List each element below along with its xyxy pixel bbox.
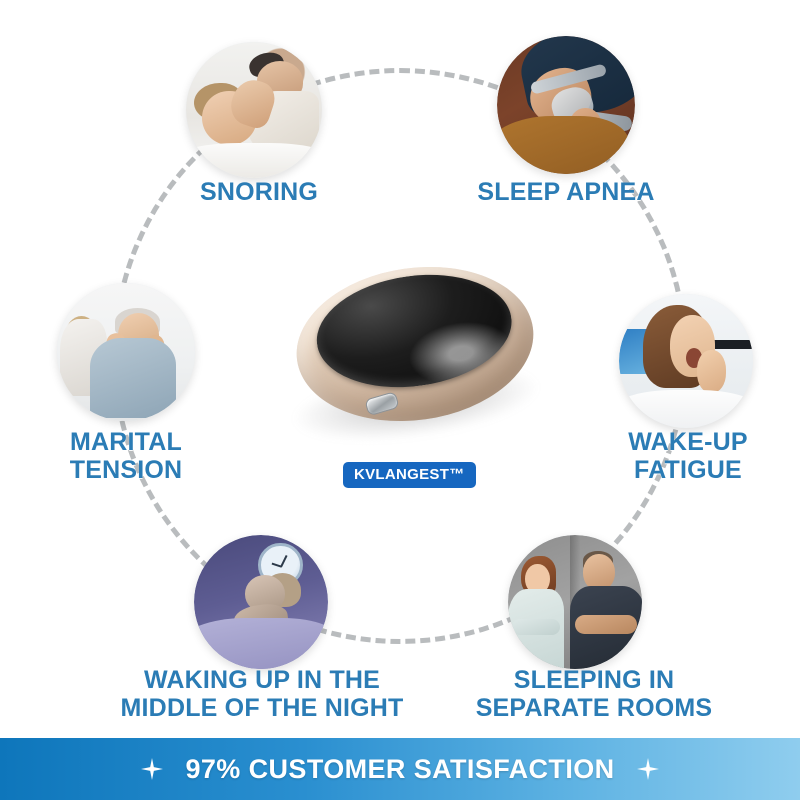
wake-up-fatigue-photo-art (619, 294, 753, 428)
sparkle-icon (637, 758, 659, 780)
satisfaction-text: 97% CUSTOMER SATISFACTION (185, 754, 614, 785)
sleep-apnea-photo-art (497, 36, 635, 174)
benefit-label-waking-at-night: WAKING UP IN THE MIDDLE OF THE NIGHT (104, 666, 420, 722)
marital-tension-photo-art (57, 283, 195, 421)
benefit-photo-sleep-apnea (497, 36, 635, 174)
benefit-photo-waking-at-night (194, 535, 328, 669)
benefit-photo-marital-tension (57, 283, 195, 421)
snoring-photo-art (186, 42, 322, 178)
benefit-photo-wake-up-fatigue (619, 294, 753, 428)
benefit-label-separate-rooms: SLEEPING IN SEPARATE ROOMS (444, 666, 744, 722)
brand-badge: KVLANGEST™ (343, 462, 476, 488)
sparkle-icon (141, 758, 163, 780)
benefit-label-sleep-apnea: SLEEP APNEA (466, 178, 666, 206)
product-device (288, 258, 544, 458)
device-glossy-top (309, 263, 518, 399)
device-power-button[interactable] (364, 391, 399, 416)
benefit-photo-separate-rooms (508, 535, 642, 669)
benefit-label-snoring: SNORING (164, 178, 354, 206)
separate-rooms-photo-art (508, 535, 642, 669)
satisfaction-banner: 97% CUSTOMER SATISFACTION (0, 738, 800, 800)
benefit-photo-snoring (186, 42, 322, 178)
waking-at-night-photo-art (194, 535, 328, 669)
benefit-label-wake-up-fatigue: WAKE-UP FATIGUE (596, 428, 780, 484)
benefit-label-marital-tension: MARITAL TENSION (28, 428, 224, 484)
infographic-poster: SNORING SLEEP APNEA MARITAL TENSION (0, 0, 800, 800)
